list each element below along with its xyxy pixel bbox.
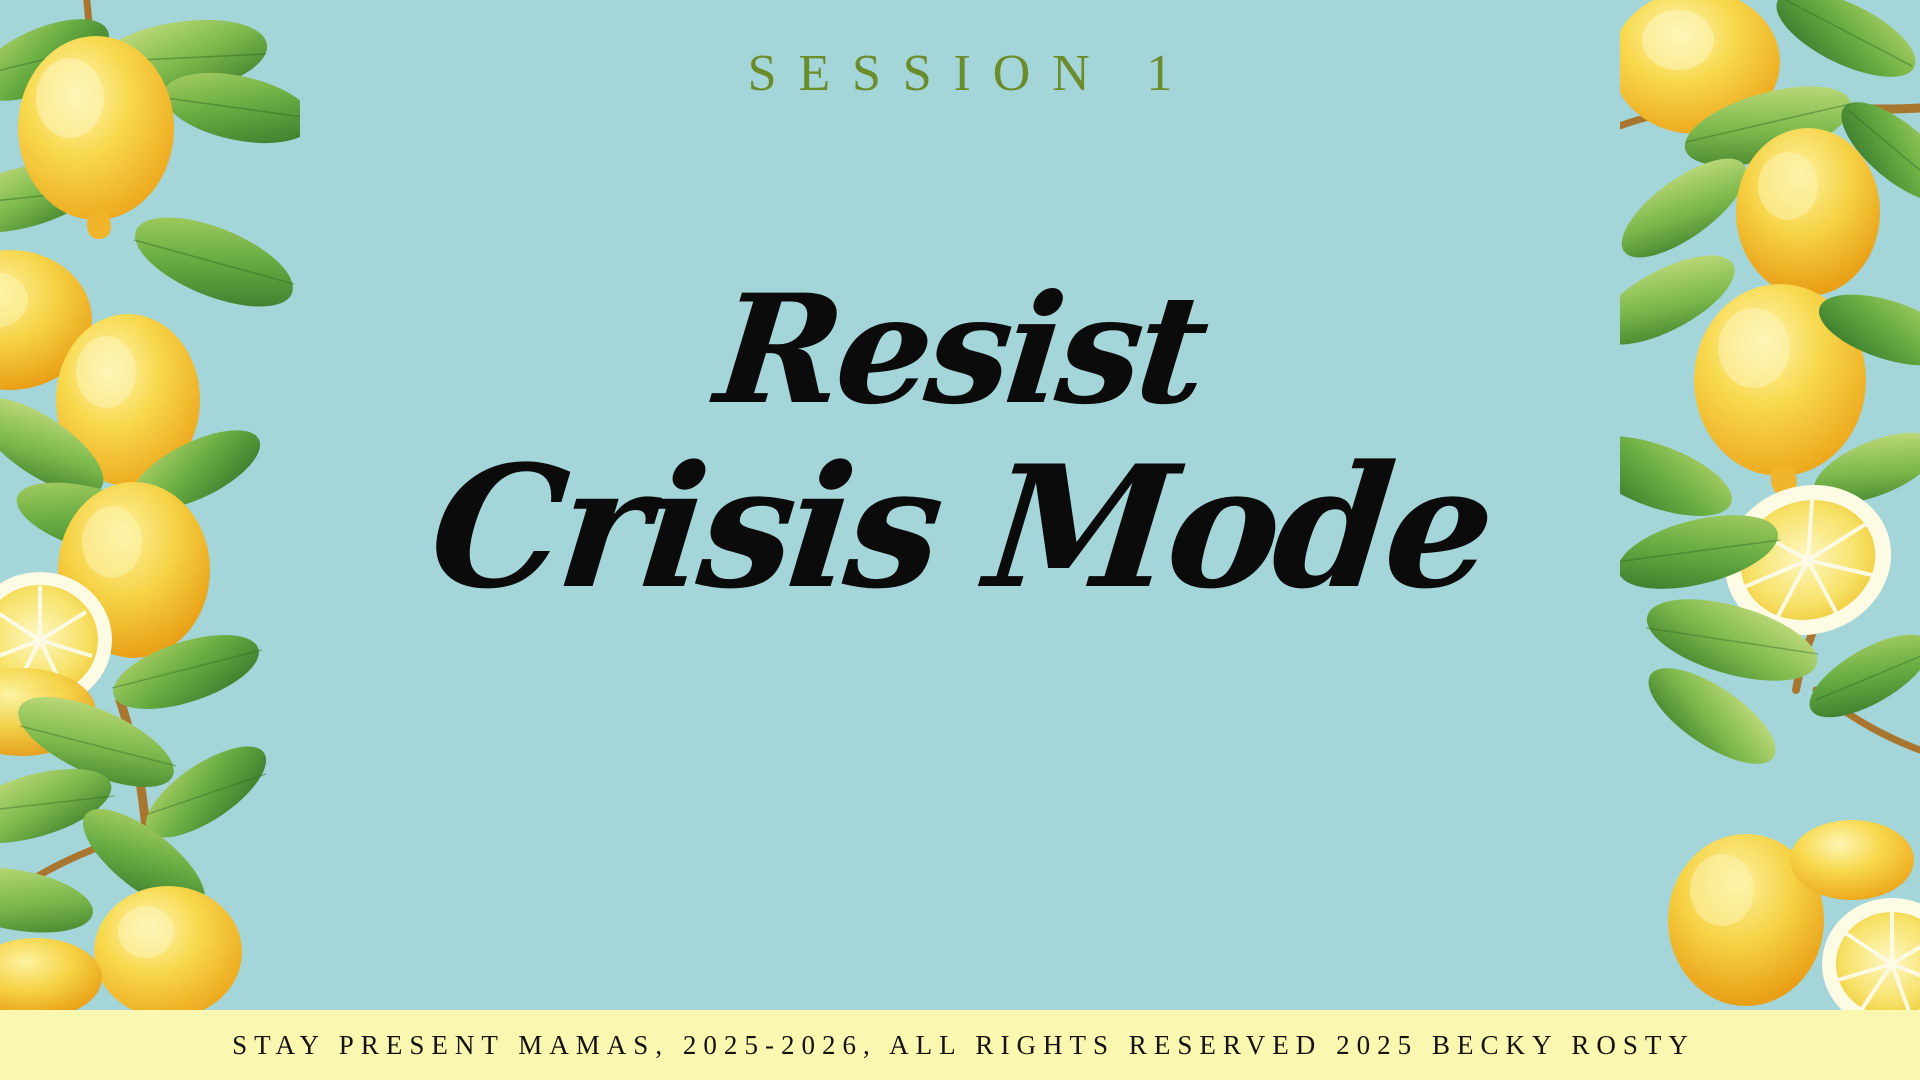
lemon-fruit-bottom-edge-left [0,938,102,1010]
leaf-group-upper-right [1620,0,1920,275]
lemon-fruit-bottom-right [1668,834,1824,1006]
title-line-crisis-mode: Crisis Mode [0,449,1920,607]
slide-title: Resist Crisis Mode [0,280,1920,607]
slide-canvas: SESSION 1 Resist Crisis Mode STAY PRESEN… [0,0,1920,1080]
lemon-fruit-right-edge [1790,820,1914,900]
title-line-resist: Resist [0,280,1920,421]
lemon-fruit-upper-mid-right [1736,128,1880,296]
footer-copyright-text: STAY PRESENT MAMAS, 2025-2026, ALL RIGHT… [225,1032,1695,1059]
footer-banner: STAY PRESENT MAMAS, 2025-2026, ALL RIGHT… [0,1010,1920,1080]
lemon-slice-bottom-right [1822,898,1920,1010]
leaf-group-lower-left [0,620,280,943]
lemon-fruit-bottom-left [94,886,242,1010]
session-label: SESSION 1 [0,48,1920,100]
